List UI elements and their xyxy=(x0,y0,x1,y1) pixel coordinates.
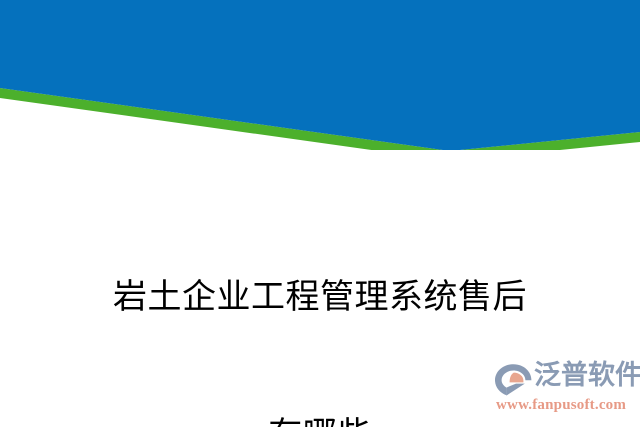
swoosh-inner-arc xyxy=(510,373,524,383)
fanpu-swoosh-icon xyxy=(494,363,532,397)
banner-blue-shape xyxy=(0,0,640,150)
swoosh-tail-shape xyxy=(506,384,524,396)
brand-logo: 泛普软件 www.fanpusoft.com xyxy=(494,357,630,419)
chevron-banner xyxy=(0,0,640,150)
page-title-line-1: 岩土企业工程管理系统售后 xyxy=(0,275,640,321)
slide-canvas: 岩土企业工程管理系统售后 有哪些 泛普软件 www.fanpusoft.com xyxy=(0,0,640,427)
brand-wordmark: 泛普软件 xyxy=(534,359,640,393)
brand-url: www.fanpusoft.com xyxy=(496,396,626,414)
